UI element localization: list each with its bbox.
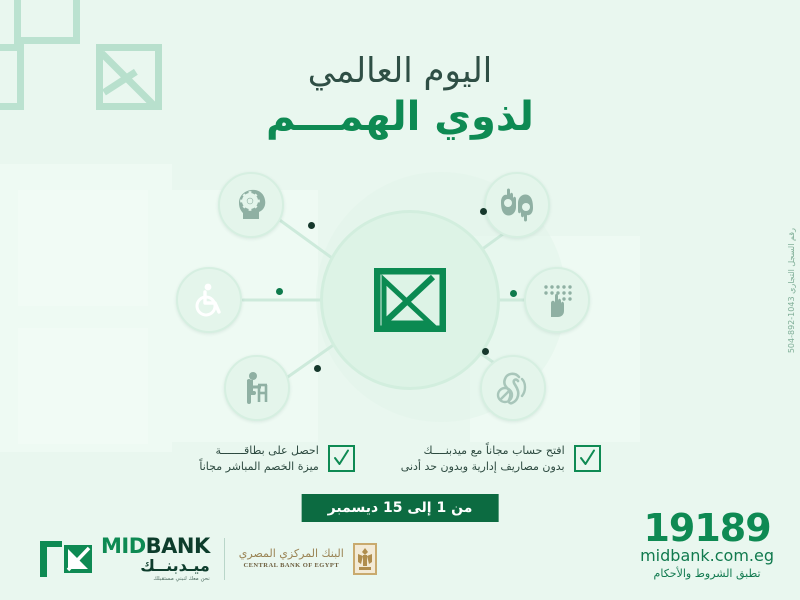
accent-dot-6 bbox=[482, 348, 489, 355]
central-bank-name-ar: البنك المركزي المصري bbox=[239, 547, 344, 561]
footer-divider bbox=[224, 538, 225, 580]
headline: اليوم العالمي لذوي الهمـــم bbox=[0, 52, 800, 141]
midbank-logo: MIDBANK ميـدبنــك نحن معك لنبني مستقبلك bbox=[38, 536, 210, 583]
benefit-account-line-2: بدون مصاريف إدارية وبدون حد أدنى bbox=[401, 459, 565, 475]
node-hearing-disability[interactable] bbox=[480, 355, 546, 421]
node-mobility-disability[interactable] bbox=[176, 267, 242, 333]
central-bank-logo: البنك المركزي المصري CENTRAL BANK OF EGY… bbox=[239, 542, 378, 576]
ear-hearing-icon bbox=[493, 369, 533, 407]
footer-logos: MIDBANK ميـدبنــك نحن معك لنبني مستقبلك … bbox=[38, 536, 378, 583]
headline-line-2: لذوي الهمـــم bbox=[0, 93, 800, 141]
central-bank-name-en: CENTRAL BANK OF EGYPT bbox=[239, 562, 344, 570]
benefit-item-card: احصل على بطاقـــــــة ميزة الخصم المباشر… bbox=[199, 443, 354, 475]
registry-text: رقم السجل التجاري 1043-892-504 bbox=[787, 228, 796, 353]
node-sign-language[interactable] bbox=[484, 172, 550, 238]
decor-square-outline-top bbox=[14, 0, 80, 44]
poster-canvas: اليوم العالمي لذوي الهمـــم bbox=[0, 0, 800, 600]
accent-dot-5 bbox=[510, 290, 517, 297]
benefit-text-card: احصل على بطاقـــــــة ميزة الخصم المباشر… bbox=[199, 443, 318, 475]
braille-hand-icon bbox=[537, 281, 577, 319]
benefit-item-account: افتح حساب مجاناً مع ميدبنــــك بدون مصار… bbox=[401, 443, 601, 475]
checkmark-icon bbox=[578, 449, 597, 468]
benefit-text-account: افتح حساب مجاناً مع ميدبنــــك بدون مصار… bbox=[401, 443, 565, 475]
midbank-wordmark: MIDBANK ميـدبنــك نحن معك لنبني مستقبلك bbox=[101, 536, 210, 583]
benefits-row: افتح حساب مجاناً مع ميدبنــــك بدون مصار… bbox=[0, 443, 800, 475]
midbank-logo-icon bbox=[38, 539, 94, 579]
checkbox-card[interactable] bbox=[328, 445, 355, 472]
midbank-tagline: نحن معك لنبني مستقبلك bbox=[101, 577, 210, 583]
midbank-name-ar: ميـدبنــك bbox=[101, 558, 210, 574]
checkmark-icon bbox=[332, 449, 351, 468]
decor-block-c bbox=[18, 328, 148, 444]
midbank-name-en: MIDBANK bbox=[101, 536, 210, 557]
accent-dot-2 bbox=[276, 288, 283, 295]
node-cognitive-disability[interactable] bbox=[218, 172, 284, 238]
node-braille-reading[interactable] bbox=[524, 267, 590, 333]
benefit-card-line-2: ميزة الخصم المباشر مجاناً bbox=[199, 459, 318, 475]
benefit-card-line-1: احصل على بطاقـــــــة bbox=[199, 443, 318, 459]
headline-line-1: اليوم العالمي bbox=[0, 52, 800, 91]
egypt-eagle-emblem bbox=[352, 542, 378, 576]
checkbox-account[interactable] bbox=[574, 445, 601, 472]
central-bank-wordmark: البنك المركزي المصري CENTRAL BANK OF EGY… bbox=[239, 547, 344, 570]
benefit-account-line-1: افتح حساب مجاناً مع ميدبنــــك bbox=[401, 443, 565, 459]
midbank-name-mid: MID bbox=[101, 534, 146, 558]
accent-dot-4 bbox=[480, 208, 487, 215]
website-url[interactable]: midbank.com.eg bbox=[640, 547, 774, 565]
decor-block-b bbox=[18, 190, 148, 306]
node-elderly-mobility[interactable] bbox=[224, 355, 290, 421]
accent-dot-1 bbox=[308, 222, 315, 229]
hub-center-circle bbox=[320, 210, 500, 390]
hotline-number[interactable]: 19189 bbox=[640, 510, 774, 546]
elderly-walker-icon bbox=[238, 369, 276, 407]
date-badge: من 1 إلى 15 ديسمبر bbox=[302, 494, 499, 522]
wheelchair-icon bbox=[190, 281, 228, 319]
sign-language-icon bbox=[497, 186, 537, 224]
terms-note: تطبق الشروط والأحكام bbox=[640, 567, 774, 580]
midbank-name-bank: BANK bbox=[146, 534, 210, 558]
accessibility-hub bbox=[180, 150, 620, 450]
brain-gear-icon bbox=[231, 185, 271, 225]
hotline-block: 19189 midbank.com.eg تطبق الشروط والأحكا… bbox=[640, 510, 774, 580]
decor-block-a bbox=[0, 164, 172, 452]
accent-dot-3 bbox=[314, 365, 321, 372]
midbank-logo-mark bbox=[374, 268, 446, 332]
